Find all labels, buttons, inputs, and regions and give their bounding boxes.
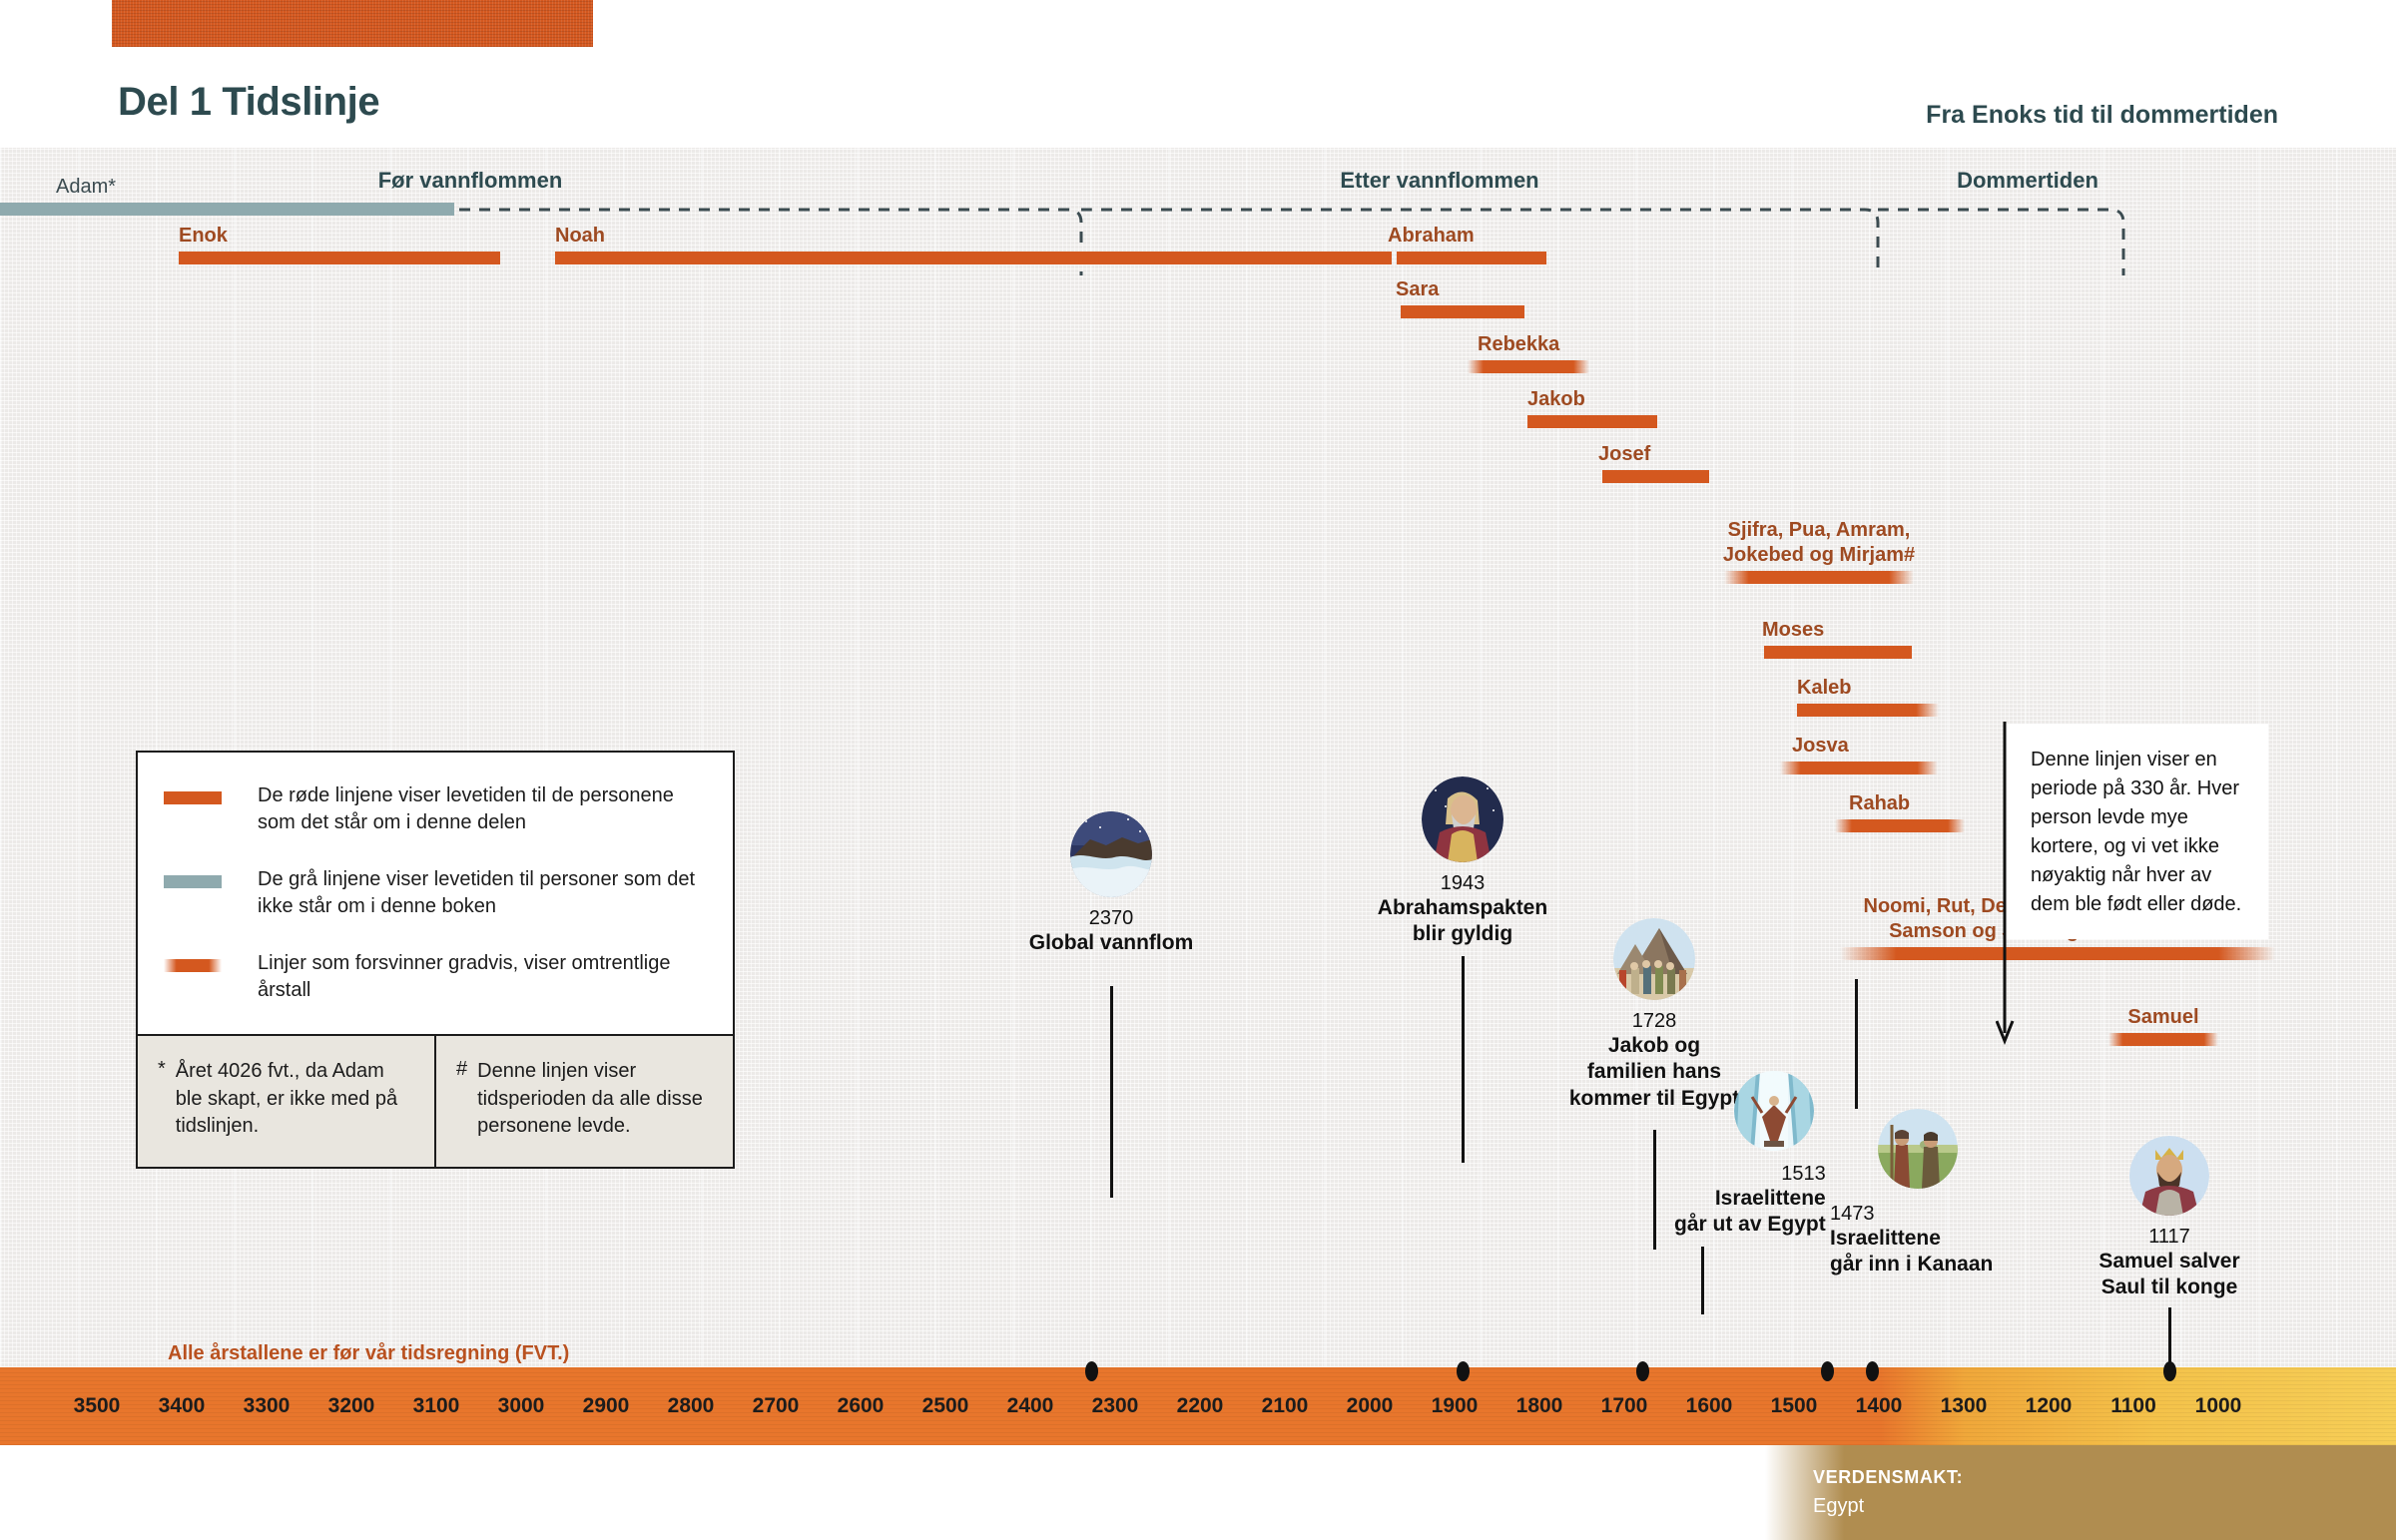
legend-footnote-asterisk: * Året 4026 fvt., da Adam ble skapt, er … bbox=[138, 1036, 434, 1167]
axis-note: Alle årstallene er før vår tidsregning (… bbox=[168, 1342, 569, 1365]
event-abraham-covenant-desc: Abrahamspakten blir gyldig bbox=[1378, 895, 1547, 948]
lifespan-bar-noah bbox=[555, 252, 1392, 264]
axis-tick: 1000 bbox=[2195, 1394, 2242, 1418]
event-enter-canaan-year: 1473 bbox=[1830, 1203, 1993, 1226]
lifespan-bar-judges-group bbox=[1840, 947, 2275, 960]
axis-tick: 3300 bbox=[244, 1394, 291, 1418]
lifespan-label-jakob: Jakob bbox=[1527, 388, 1585, 411]
page-title: Del 1 Tidslinje bbox=[118, 80, 379, 125]
lifespan-label-rahab: Rahab bbox=[1849, 792, 1910, 815]
lifespan-label-midwives-group: Sjifra, Pua, Amram, Jokebed og Mirjam# bbox=[1723, 518, 1915, 567]
axis-tick: 2900 bbox=[583, 1394, 630, 1418]
legend-swatch-gray-icon bbox=[164, 875, 222, 888]
axis-tick: 1300 bbox=[1941, 1394, 1988, 1418]
event-exodus-desc: Israelittene går ut av Egypt bbox=[1674, 1186, 1826, 1239]
legend-text-fade: Linjer som forsvinner gradvis, viser omt… bbox=[258, 950, 707, 1004]
red-sea-crossing-icon bbox=[1734, 1071, 1814, 1151]
axis-tick: 2500 bbox=[922, 1394, 969, 1418]
lifespan-bar-enok bbox=[179, 252, 500, 264]
world-power-name: Egypt bbox=[1813, 1495, 2396, 1518]
legend-text-red: De røde linjene viser levetiden til de p… bbox=[258, 782, 707, 836]
axis-marker-dot bbox=[2163, 1361, 2176, 1381]
axis-tick: 2700 bbox=[753, 1394, 800, 1418]
brand-swatch bbox=[112, 0, 593, 47]
legend-box: De røde linjene viser levetiden til de p… bbox=[136, 751, 735, 1169]
axis-marker-dot bbox=[1821, 1361, 1834, 1381]
axis-tick: 3100 bbox=[413, 1394, 460, 1418]
legend-footnotes: * Året 4026 fvt., da Adam ble skapt, er … bbox=[138, 1034, 733, 1167]
lifespan-label-adam: Adam* bbox=[56, 176, 116, 199]
event-abraham-covenant-text: 1943 Abrahamspakten blir gyldig bbox=[1378, 872, 1547, 948]
lifespan-bar-jakob bbox=[1527, 415, 1657, 428]
legend-footnote-hash-text: Denne linjen viser tidsperioden da alle … bbox=[477, 1058, 713, 1141]
event-jacob-to-egypt-stem bbox=[1653, 1130, 1656, 1250]
event-enter-canaan-stem bbox=[1855, 979, 1858, 1109]
event-global-flood-year: 2370 bbox=[1029, 907, 1194, 930]
event-enter-canaan-text: 1473 Israelittene går inn i Kanaan bbox=[1830, 1203, 1993, 1279]
lifespan-bar-rahab bbox=[1835, 819, 1965, 832]
axis-tick: 3200 bbox=[328, 1394, 375, 1418]
legend-item-red: De røde linjene viser levetiden til de p… bbox=[164, 782, 707, 836]
lifespan-label-sara: Sara bbox=[1396, 278, 1439, 301]
event-exodus-year: 1513 bbox=[1674, 1163, 1826, 1186]
event-global-flood-stem bbox=[1110, 986, 1113, 1198]
lifespan-label-samuel: Samuel bbox=[2127, 1006, 2198, 1029]
flood-mountain-icon bbox=[1070, 811, 1152, 897]
axis-tick: 1100 bbox=[2110, 1394, 2156, 1418]
event-global-flood-desc: Global vannflom bbox=[1029, 930, 1194, 956]
timeline-canvas: Før vannflommen Etter vannflommen Dommer… bbox=[0, 148, 2396, 1367]
axis-tick: 2100 bbox=[1262, 1394, 1309, 1418]
legend-item-fade: Linjer som forsvinner gradvis, viser omt… bbox=[164, 950, 707, 1004]
event-exodus-stem bbox=[1701, 1247, 1704, 1314]
lifespan-label-enok: Enok bbox=[179, 225, 228, 248]
axis-marker-dot bbox=[1636, 1361, 1649, 1381]
event-jacob-to-egypt-text: 1728 Jakob og familien hans kommer til E… bbox=[1569, 1010, 1739, 1112]
axis-marker-dot bbox=[1866, 1361, 1879, 1381]
lifespan-bar-josef bbox=[1602, 470, 1709, 483]
axis-tick: 1600 bbox=[1686, 1394, 1733, 1418]
legend-items: De røde linjene viser levetiden til de p… bbox=[138, 753, 733, 1034]
event-jacob-to-egypt-year: 1728 bbox=[1569, 1010, 1739, 1033]
legend-footnote-hash: # Denne linjen viser tidsperioden da all… bbox=[434, 1036, 733, 1167]
axis-tick: 1700 bbox=[1601, 1394, 1648, 1418]
lifespan-bar-josva bbox=[1780, 762, 1938, 774]
event-jacob-to-egypt-desc: Jakob og familien hans kommer til Egypt bbox=[1569, 1033, 1739, 1112]
legend-swatch-red-icon bbox=[164, 791, 222, 804]
lifespan-label-josva: Josva bbox=[1792, 735, 1849, 758]
lifespan-bar-moses bbox=[1764, 646, 1912, 659]
abraham-portrait-icon bbox=[1422, 776, 1503, 862]
lifespan-bar-samuel bbox=[2108, 1033, 2218, 1046]
callout-arrow-icon bbox=[1996, 722, 2026, 1051]
axis-tick: 2000 bbox=[1347, 1394, 1394, 1418]
event-enter-canaan-desc: Israelittene går inn i Kanaan bbox=[1830, 1226, 1993, 1279]
axis-tick: 1500 bbox=[1771, 1394, 1818, 1418]
axis-tick: 1800 bbox=[1516, 1394, 1563, 1418]
year-axis: 3500 3400 3300 3200 3100 3000 2900 2800 … bbox=[0, 1367, 2396, 1445]
axis-tick: 1400 bbox=[1856, 1394, 1903, 1418]
lifespan-label-kaleb: Kaleb bbox=[1797, 677, 1851, 700]
event-exodus-text: 1513 Israelittene går ut av Egypt bbox=[1674, 1163, 1826, 1239]
legend-text-gray: De grå linjene viser levetiden til perso… bbox=[258, 866, 707, 920]
asterisk-icon: * bbox=[158, 1058, 166, 1141]
axis-tick: 1900 bbox=[1432, 1394, 1479, 1418]
canaan-scouts-icon bbox=[1878, 1109, 1958, 1189]
axis-tick: 2800 bbox=[668, 1394, 715, 1418]
lifespan-label-josef: Josef bbox=[1598, 443, 1650, 466]
event-abraham-covenant-year: 1943 bbox=[1378, 872, 1547, 895]
page-subtitle: Fra Enoks tid til dommertiden bbox=[1926, 101, 2278, 130]
event-saul-anointed-year: 1117 bbox=[2098, 1226, 2239, 1249]
legend-swatch-fade-icon bbox=[164, 959, 222, 972]
legend-footnote-asterisk-text: Året 4026 fvt., da Adam ble skapt, er ik… bbox=[176, 1058, 414, 1141]
axis-tick: 3400 bbox=[159, 1394, 206, 1418]
axis-tick: 3500 bbox=[74, 1394, 121, 1418]
axis-marker-dot bbox=[1085, 1361, 1098, 1381]
legend-item-gray: De grå linjene viser levetiden til perso… bbox=[164, 866, 707, 920]
king-saul-icon bbox=[2129, 1136, 2209, 1216]
lifespan-bar-sara bbox=[1401, 305, 1524, 318]
event-global-flood-text: 2370 Global vannflom bbox=[1029, 907, 1194, 956]
lifespan-label-moses: Moses bbox=[1762, 619, 1824, 642]
lifespan-bar-rebekka bbox=[1468, 360, 1589, 373]
hash-icon: # bbox=[456, 1058, 467, 1141]
event-saul-anointed-text: 1117 Samuel salver Saul til konge bbox=[2098, 1226, 2239, 1301]
lifespan-bar-midwives-group bbox=[1724, 571, 1914, 584]
lifespan-label-noah: Noah bbox=[555, 225, 605, 248]
lifespan-bar-abraham bbox=[1397, 252, 1546, 264]
egypt-pyramids-icon bbox=[1613, 918, 1695, 1000]
lifespan-bar-kaleb bbox=[1797, 704, 1939, 717]
lifespan-label-rebekka: Rebekka bbox=[1478, 333, 1559, 356]
world-power-band: VERDENSMAKT: Egypt bbox=[1765, 1445, 2396, 1540]
axis-tick: 2300 bbox=[1092, 1394, 1139, 1418]
lifespan-label-abraham: Abraham bbox=[1388, 225, 1475, 248]
timeline-infographic: Del 1 Tidslinje Fra Enoks tid til dommer… bbox=[0, 0, 2396, 1540]
lifespan-bar-adam bbox=[0, 203, 454, 216]
axis-tick: 2200 bbox=[1177, 1394, 1224, 1418]
axis-tick: 2600 bbox=[838, 1394, 885, 1418]
axis-marker-dot bbox=[1457, 1361, 1470, 1381]
world-power-kicker: VERDENSMAKT: bbox=[1813, 1467, 2396, 1488]
axis-tick: 1200 bbox=[2026, 1394, 2073, 1418]
callout-box: Denne linjen viser en periode på 330 år.… bbox=[2005, 724, 2268, 939]
event-abraham-covenant-stem bbox=[1462, 956, 1465, 1163]
axis-tick: 2400 bbox=[1007, 1394, 1054, 1418]
event-saul-anointed-desc: Samuel salver Saul til konge bbox=[2098, 1249, 2239, 1301]
event-saul-anointed-stem bbox=[2168, 1307, 2171, 1367]
axis-tick: 3000 bbox=[498, 1394, 545, 1418]
